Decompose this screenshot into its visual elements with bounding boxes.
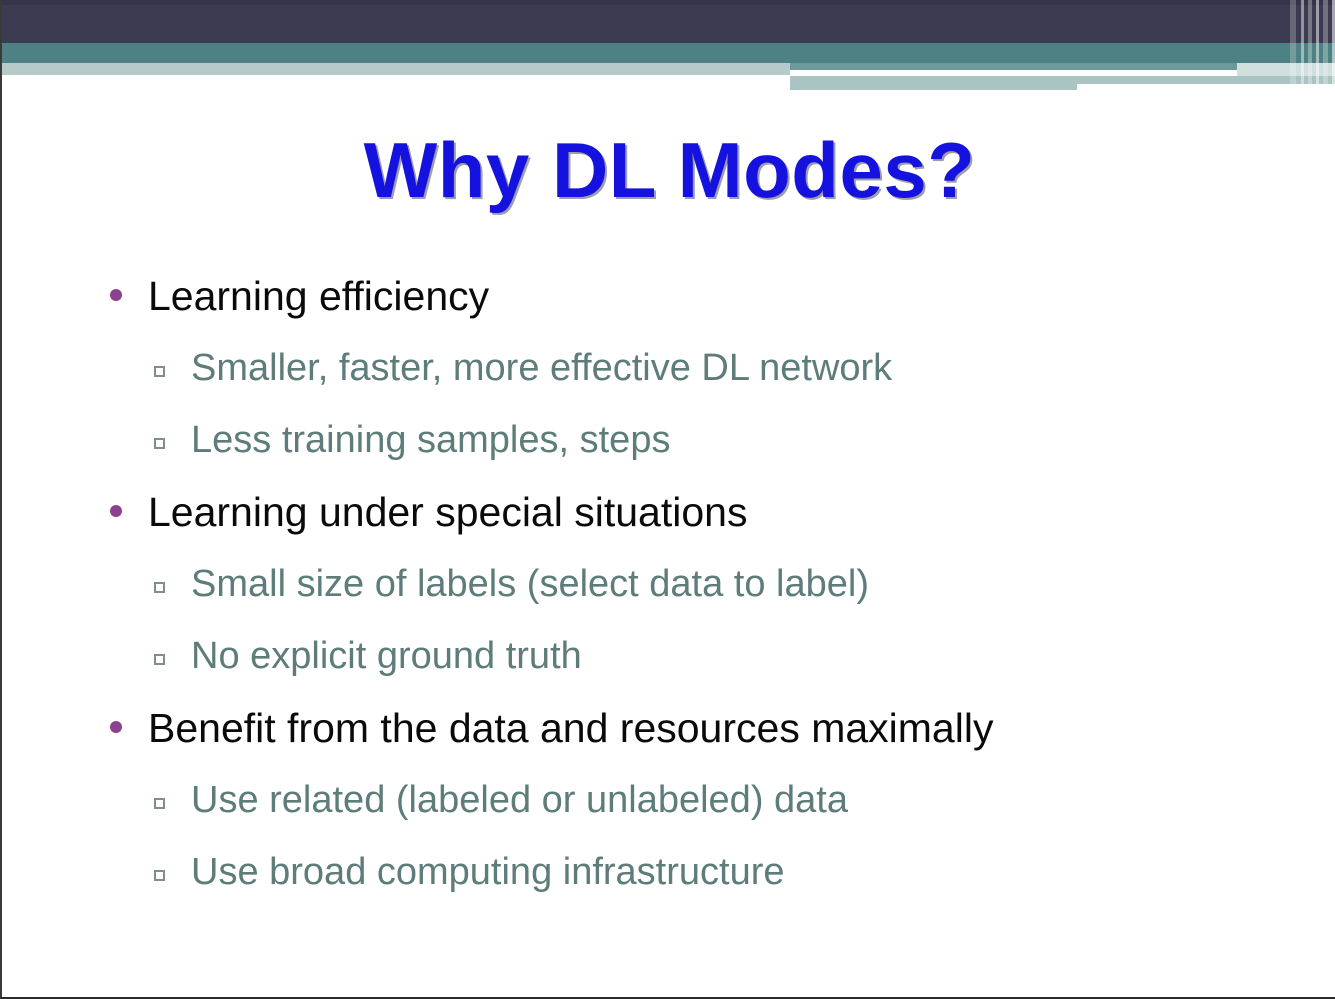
bullet-text: Benefit from the data and resources maxi… [148, 700, 993, 756]
slide-title: Why DL Modes? [2, 125, 1335, 215]
bullet-text: Smaller, faster, more effective DL netwo… [191, 340, 892, 396]
bullet-text: Use broad computing infrastructure [191, 844, 785, 900]
header-decoration [2, 0, 1335, 100]
bullet-text: Learning under special situations [148, 484, 747, 540]
bullet-text: Less training samples, steps [191, 412, 670, 468]
header-vertical-stripe-3 [1308, 0, 1312, 100]
bullet-text: Use related (labeled or unlabeled) data [191, 772, 848, 828]
bullet-dot-icon [110, 289, 122, 301]
header-vertical-stripe-1 [1290, 0, 1296, 100]
bullet-square-icon [154, 870, 165, 881]
slide-canvas: Why DL Modes? Learning efficiency Smalle… [0, 0, 1335, 999]
bullet-item-level2: Smaller, faster, more effective DL netwo… [2, 340, 1335, 412]
bullet-square-icon [154, 654, 165, 665]
header-navy-band [2, 0, 1335, 43]
header-navy-top-edge [2, 0, 1335, 5]
bullet-text: Small size of labels (select data to lab… [191, 556, 869, 612]
header-teal-band [2, 43, 1335, 63]
bullet-item-level2: No explicit ground truth [2, 628, 1335, 700]
header-pale-left-band [2, 63, 790, 75]
bullet-item-level1: Benefit from the data and resources maxi… [2, 700, 1335, 772]
bullet-text: No explicit ground truth [191, 628, 582, 684]
header-vertical-stripe-5 [1323, 0, 1328, 100]
header-vertical-stripe-4 [1316, 0, 1319, 100]
bullet-item-level2: Small size of labels (select data to lab… [2, 556, 1335, 628]
bullet-square-icon [154, 438, 165, 449]
bullet-dot-icon [110, 721, 122, 733]
bullet-item-level2: Use related (labeled or unlabeled) data [2, 772, 1335, 844]
bullet-item-level1: Learning under special situations [2, 484, 1335, 556]
bullet-list: Learning efficiency Smaller, faster, mor… [2, 268, 1335, 916]
bullet-item-level1: Learning efficiency [2, 268, 1335, 340]
bullet-square-icon [154, 366, 165, 377]
bullet-square-icon [154, 798, 165, 809]
bullet-dot-icon [110, 505, 122, 517]
header-white-notch [1077, 84, 1335, 92]
bullet-text: Learning efficiency [148, 268, 489, 324]
bullet-square-icon [154, 582, 165, 593]
bullet-item-level2: Less training samples, steps [2, 412, 1335, 484]
bullet-item-level2: Use broad computing infrastructure [2, 844, 1335, 916]
header-vertical-stripe-2 [1301, 0, 1304, 100]
